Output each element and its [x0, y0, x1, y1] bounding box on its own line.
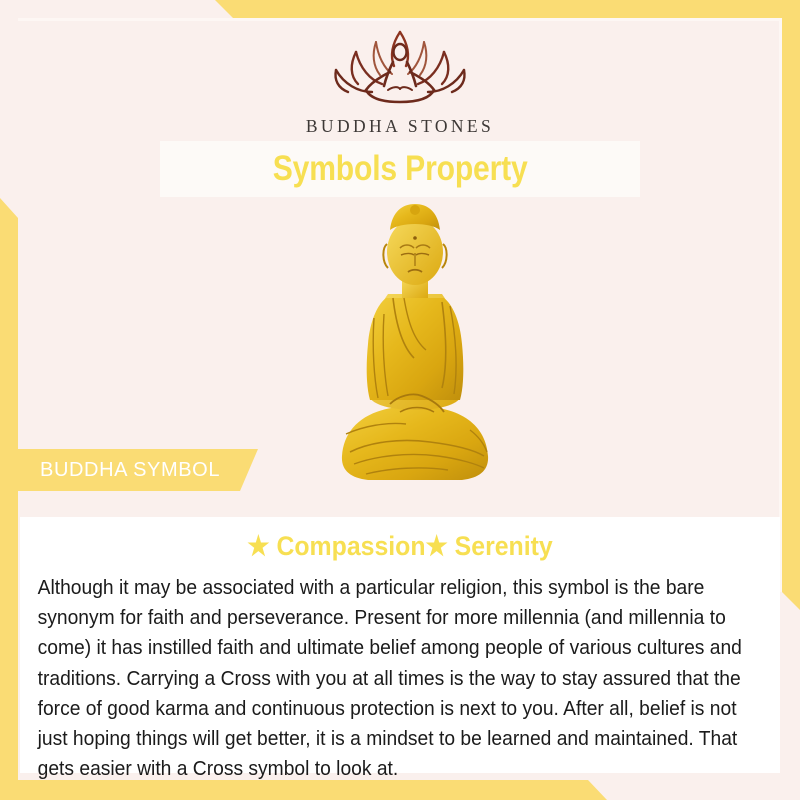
page-title: Symbols Property: [273, 149, 528, 189]
brand-logo: BUDDHA STONES: [0, 26, 800, 137]
content-paragraph: Although it may be associated with a par…: [32, 573, 768, 784]
section-ribbon-label: BUDDHA SYMBOL: [40, 459, 220, 482]
content-card: ★ Compassion★ Serenity Although it may b…: [20, 517, 780, 773]
lotus-meditation-icon: [320, 26, 480, 110]
poster-root: BUDDHA STONES Symbols Property: [0, 0, 800, 800]
brand-name: BUDDHA STONES: [306, 116, 494, 137]
decor-inner-rule-top: [18, 18, 782, 21]
page-title-band: Symbols Property: [160, 141, 640, 197]
decor-left-strip: [0, 198, 18, 800]
hero-image: [330, 198, 500, 490]
golden-seated-buddha-statue-icon: [330, 198, 500, 490]
content-headline: ★ Compassion★ Serenity: [61, 531, 738, 562]
section-ribbon: BUDDHA SYMBOL: [18, 449, 258, 491]
decor-top-bar: [0, 0, 800, 18]
